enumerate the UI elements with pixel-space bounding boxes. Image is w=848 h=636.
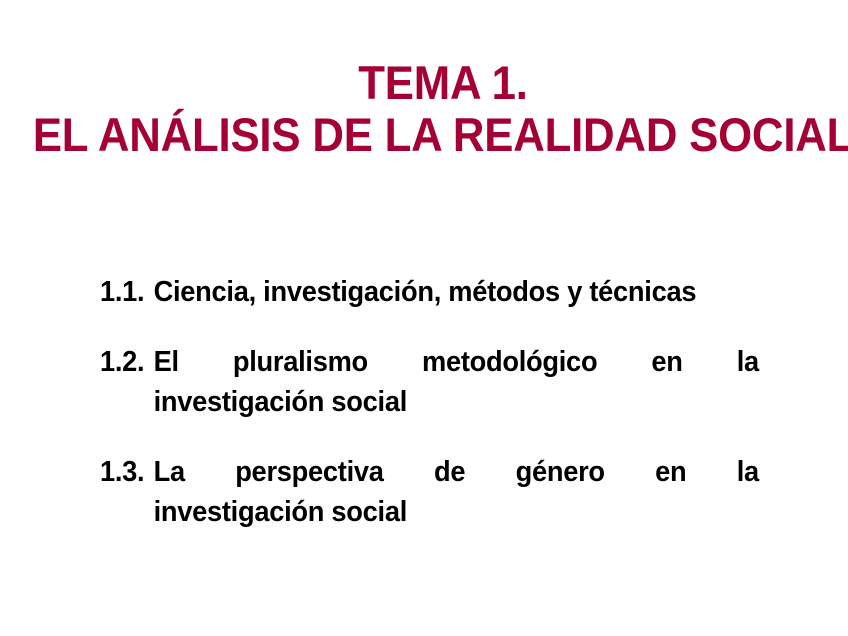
title-line-1: TEMA 1. (31, 57, 848, 109)
outline-item-text: Ciencia, investigación, métodos y técnic… (154, 272, 759, 312)
outline-item-text-line: investigación social (154, 492, 759, 532)
outline-list: 1.1. Ciencia, investigación, métodos y t… (100, 272, 801, 532)
slide-title: TEMA 1. EL ANÁLISIS DE LA REALIDAD SOCIA… (0, 57, 848, 161)
outline-item-text: La perspectiva de género en la investiga… (154, 452, 759, 532)
outline-item-number: 1.2. (100, 342, 144, 382)
outline-item-1-1: 1.1. Ciencia, investigación, métodos y t… (100, 272, 759, 312)
title-line-2: EL ANÁLISIS DE LA REALIDAD SOCIAL (31, 109, 848, 161)
outline-item-1-3: 1.3. La perspectiva de género en la inve… (100, 452, 759, 532)
outline-item-text: El pluralismo metodológico en la investi… (154, 342, 759, 422)
outline-item-number: 1.1. (100, 272, 144, 312)
slide-canvas: TEMA 1. EL ANÁLISIS DE LA REALIDAD SOCIA… (0, 0, 848, 636)
outline-item-1-2: 1.2. El pluralismo metodológico en la in… (100, 342, 759, 422)
outline-item-text-line: El pluralismo metodológico en la (154, 342, 759, 382)
outline-item-number: 1.3. (100, 452, 144, 492)
outline-item-text-line: La perspectiva de género en la (154, 452, 759, 492)
outline-item-text-line: investigación social (154, 382, 759, 422)
